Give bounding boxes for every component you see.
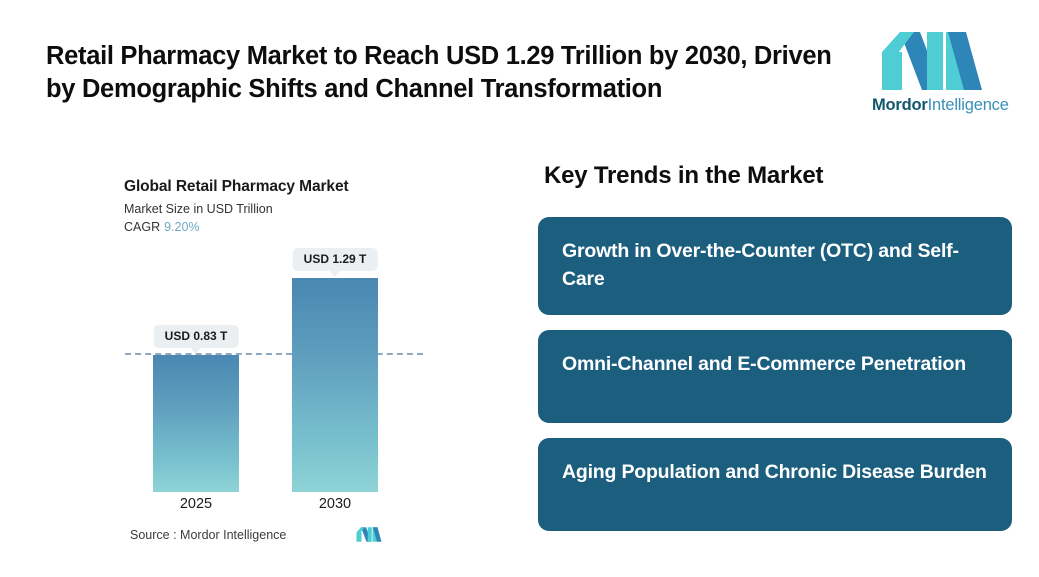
chart-subtitle: Market Size in USD Trillion: [124, 202, 424, 216]
source-row: Source : Mordor Intelligence: [130, 526, 420, 543]
trend-card-2[interactable]: Omni-Channel and E-Commerce Penetration: [538, 330, 1012, 423]
trends-heading: Key Trends in the Market: [544, 162, 1012, 190]
cagr-value: 9.20%: [164, 220, 199, 234]
brand-wordmark-light: Intelligence: [928, 96, 1009, 114]
page-title: Retail Pharmacy Market to Reach USD 1.29…: [46, 40, 846, 106]
trend-card-1[interactable]: Growth in Over-the-Counter (OTC) and Sel…: [538, 217, 1012, 315]
chart-panel: Global Retail Pharmacy Market Market Siz…: [124, 178, 424, 548]
mordor-m-logo-icon: [356, 526, 382, 543]
trends-panel: Key Trends in the Market Growth in Over-…: [538, 162, 1012, 546]
cagr-label: CAGR: [124, 220, 160, 234]
source-text: Source : Mordor Intelligence: [130, 528, 286, 542]
brand-wordmark: MordorIntelligence: [872, 96, 992, 115]
chart-title: Global Retail Pharmacy Market: [124, 178, 424, 196]
brand-logo: MordorIntelligence: [872, 30, 992, 120]
mordor-m-logo-icon: [880, 30, 984, 92]
bar-value-badge-2025: USD 0.83 T: [154, 325, 239, 348]
source-label: Source :: [130, 528, 177, 542]
x-axis-label-2030: 2030: [292, 496, 378, 512]
source-name: Mordor Intelligence: [180, 528, 286, 542]
bar-2030[interactable]: [292, 278, 378, 492]
plot-area: USD 0.83 T USD 1.29 T: [124, 240, 424, 492]
bar-value-badge-2030: USD 1.29 T: [293, 248, 378, 271]
trend-card-3[interactable]: Aging Population and Chronic Disease Bur…: [538, 438, 1012, 531]
bar-2025[interactable]: [153, 355, 239, 492]
chart-cagr: CAGR9.20%: [124, 220, 424, 234]
x-axis-label-2025: 2025: [153, 496, 239, 512]
brand-wordmark-bold: Mordor: [872, 96, 928, 114]
